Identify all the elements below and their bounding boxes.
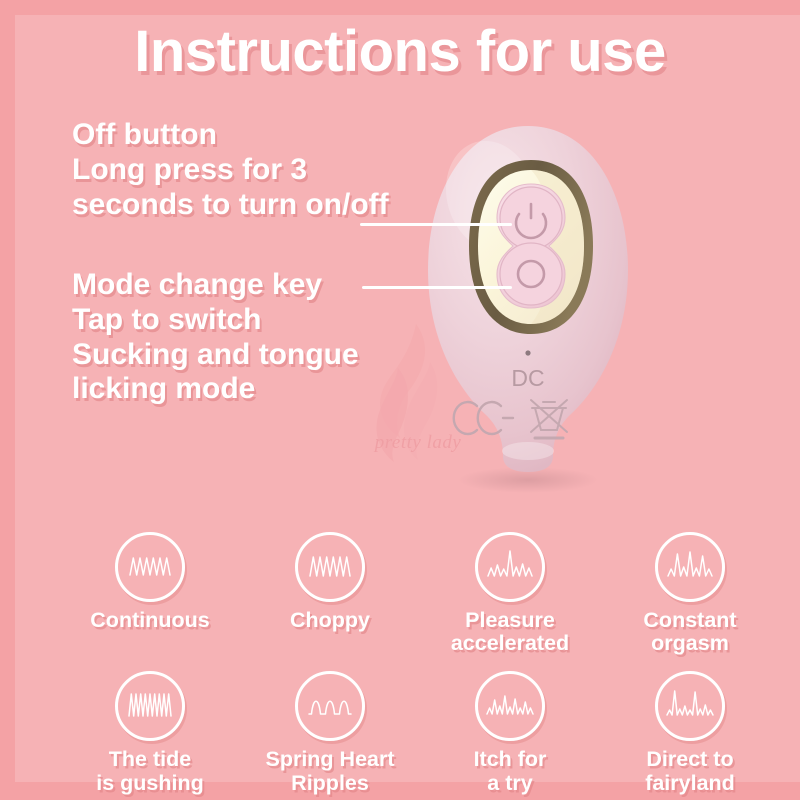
callout-off-button-line-2: Long press for 3: [72, 153, 389, 188]
mode-icon-ring: [295, 671, 365, 741]
page-title: Instructions for use: [0, 18, 800, 85]
mode-label: Continuous: [90, 609, 209, 632]
mode-cell[interactable]: Constant orgasm: [600, 532, 780, 655]
mode-label: Direct to fairyland: [645, 748, 735, 794]
waveform-tide-gushing-icon: [123, 689, 177, 723]
leader-line-off-button: [360, 223, 512, 226]
callout-mode-change-key-line-4: licking mode: [72, 372, 359, 407]
mode-button-face: [500, 243, 562, 305]
callout-mode-change-key-line-3: Sucking and tongue: [72, 338, 359, 373]
mode-icon-ring: [295, 532, 365, 602]
mode-label: Choppy: [290, 609, 370, 632]
mode-label: Itch for a try: [474, 748, 547, 794]
mode-cell[interactable]: Itch for a try: [420, 671, 600, 794]
callout-mode-change-key-line-2: Tap to switch: [72, 303, 359, 338]
callout-off-button-line-1: Off button: [72, 118, 389, 153]
mode-icon-ring: [115, 532, 185, 602]
mode-cell[interactable]: Spring Heart Ripples: [240, 671, 420, 794]
instructions-poster: pretty lady Instructions for use: [0, 0, 800, 800]
mode-cell[interactable]: Direct to fairyland: [600, 671, 780, 794]
waveform-constant-orgasm-icon: [663, 550, 717, 584]
waveform-direct-to-fairyland-icon: [663, 689, 717, 723]
waveform-itch-for-a-try-icon: [483, 689, 537, 723]
led-indicator-dot: [525, 350, 530, 355]
waveform-continuous-icon: [123, 550, 177, 584]
waveform-spring-heart-ripples-icon: [303, 689, 357, 723]
mode-label: Constant orgasm: [643, 609, 736, 655]
mode-label: The tide is gushing: [96, 748, 204, 794]
mode-icon-ring: [475, 671, 545, 741]
callout-mode-change-key: Mode change key Tap to switch Sucking an…: [72, 268, 359, 407]
dc-label: DC: [511, 365, 544, 391]
callout-off-button: Off button Long press for 3 seconds to t…: [72, 118, 389, 222]
mode-label: Pleasure accelerated: [451, 609, 569, 655]
mode-label: Spring Heart Ripples: [265, 748, 394, 794]
mode-cell[interactable]: Continuous: [60, 532, 240, 655]
leader-line-mode-change-key: [362, 286, 512, 289]
waveform-choppy-icon: [303, 550, 357, 584]
vibration-mode-grid: ContinuousChoppyPleasure acceleratedCons…: [60, 532, 780, 795]
mode-cell[interactable]: Pleasure accelerated: [420, 532, 600, 655]
mode-icon-ring: [115, 671, 185, 741]
callout-off-button-line-3: seconds to turn on/off: [72, 188, 389, 223]
device-illustration: DC: [395, 118, 660, 493]
mode-cell[interactable]: The tide is gushing: [60, 671, 240, 794]
mode-icon-ring: [655, 532, 725, 602]
waveform-pleasure-accelerated-icon: [483, 550, 537, 584]
callout-mode-change-key-line-1: Mode change key: [72, 268, 359, 303]
mode-icon-ring: [655, 671, 725, 741]
mode-cell[interactable]: Choppy: [240, 532, 420, 655]
mode-icon-ring: [475, 532, 545, 602]
